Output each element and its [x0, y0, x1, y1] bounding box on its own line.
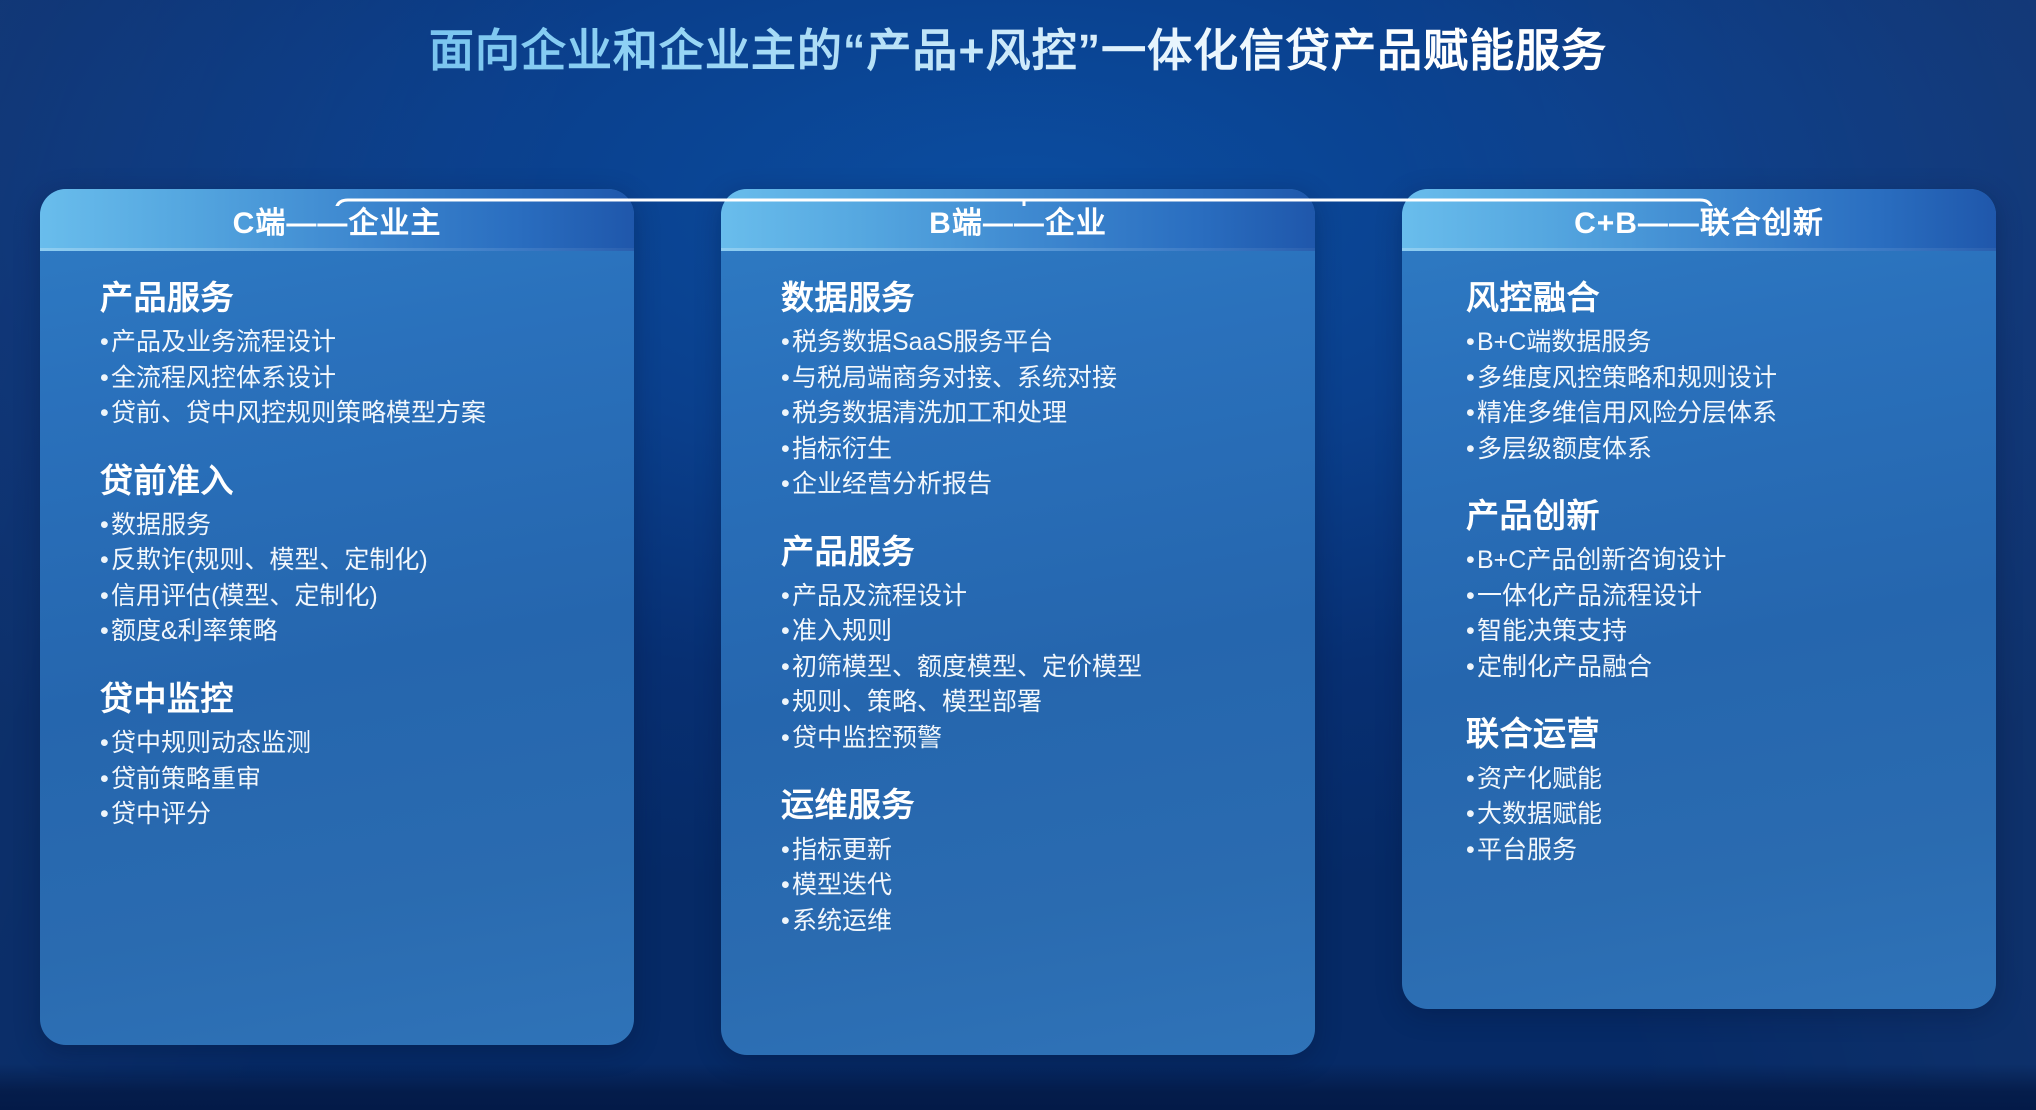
list-item: •数据服务 [100, 508, 634, 544]
list-item: •智能决策支持 [1466, 614, 1996, 650]
bullet-dot: • [781, 650, 792, 686]
section-joint-operations: 联合运营 •资产化赋能 •大数据赋能 •平台服务 [1466, 713, 1996, 868]
bullet-dot: • [1466, 797, 1477, 833]
list-item: •信用评估(模型、定制化) [100, 579, 634, 615]
section-title: 产品服务 [781, 531, 1315, 573]
bullet-dot: • [1466, 762, 1477, 798]
list-item-label: 准入规则 [792, 614, 892, 650]
bullet-dot: • [781, 685, 792, 721]
card-header-c-end: C端——企业主 [40, 189, 634, 251]
list-item-label: 与税局端商务对接、系统对接 [792, 361, 1117, 397]
list-item: •指标更新 [781, 833, 1315, 869]
section-data-service: 数据服务 •税务数据SaaS服务平台 •与税局端商务对接、系统对接 •税务数据清… [781, 277, 1315, 503]
list-item: •贷中监控预警 [781, 721, 1315, 757]
card-body-c-end: 产品服务 •产品及业务流程设计 •全流程风控体系设计 •贷前、贷中风控规则策略模… [40, 251, 634, 1045]
bullet-dot: • [100, 508, 111, 544]
bullet-dot: • [1466, 361, 1477, 397]
slide-canvas: 面向企业和企业主的“产品+风控”一体化信贷产品赋能服务 C端——企业主 产品服务 [0, 0, 2036, 1110]
bullet-dot: • [1466, 543, 1477, 579]
list-item: •多层级额度体系 [1466, 432, 1996, 468]
section-ops-service: 运维服务 •指标更新 •模型迭代 •系统运维 [781, 784, 1315, 939]
bullet-dot: • [781, 361, 792, 397]
list-item: •全流程风控体系设计 [100, 361, 634, 397]
list-item: •反欺诈(规则、模型、定制化) [100, 543, 634, 579]
list-item: •企业经营分析报告 [781, 467, 1315, 503]
bullet-dot: • [1466, 579, 1477, 615]
list-item: •贷中评分 [100, 797, 634, 833]
section-title: 产品服务 [100, 277, 634, 319]
list-item: •准入规则 [781, 614, 1315, 650]
bullet-dot: • [100, 614, 111, 650]
list-item-label: 一体化产品流程设计 [1477, 579, 1702, 615]
bullet-dot: • [100, 797, 111, 833]
list-item-label: B+C产品创新咨询设计 [1477, 543, 1726, 579]
section-title: 联合运营 [1466, 713, 1996, 755]
section-title: 风控融合 [1466, 277, 1996, 319]
bullet-list: •税务数据SaaS服务平台 •与税局端商务对接、系统对接 •税务数据清洗加工和处… [781, 325, 1315, 503]
cards-row: C端——企业主 产品服务 •产品及业务流程设计 •全流程风控体系设计 •贷前、贷… [0, 189, 2036, 1061]
list-item-label: 产品及流程设计 [792, 579, 967, 615]
bullet-dot: • [100, 543, 111, 579]
bullet-list: •资产化赋能 •大数据赋能 •平台服务 [1466, 762, 1996, 869]
bullet-list: •产品及业务流程设计 •全流程风控体系设计 •贷前、贷中风控规则策略模型方案 [100, 325, 634, 432]
bullet-dot: • [781, 579, 792, 615]
list-item-label: 资产化赋能 [1477, 762, 1602, 798]
section-product-service: 产品服务 •产品及业务流程设计 •全流程风控体系设计 •贷前、贷中风控规则策略模… [100, 277, 634, 432]
list-item-label: 定制化产品融合 [1477, 650, 1652, 686]
list-item: •定制化产品融合 [1466, 650, 1996, 686]
list-item-label: B+C端数据服务 [1477, 325, 1651, 361]
list-item: •一体化产品流程设计 [1466, 579, 1996, 615]
bullet-dot: • [1466, 325, 1477, 361]
list-item-label: 贷中评分 [111, 797, 211, 833]
list-item-label: 企业经营分析报告 [792, 467, 992, 503]
list-item: •初筛模型、额度模型、定价模型 [781, 650, 1315, 686]
section-title: 数据服务 [781, 277, 1315, 319]
list-item-label: 多层级额度体系 [1477, 432, 1652, 468]
bullet-dot: • [781, 396, 792, 432]
list-item: •系统运维 [781, 904, 1315, 940]
list-item-label: 指标更新 [792, 833, 892, 869]
list-item: •多维度风控策略和规则设计 [1466, 361, 1996, 397]
list-item-label: 信用评估(模型、定制化) [111, 579, 378, 615]
list-item-label: 贷中规则动态监测 [111, 726, 311, 762]
list-item-label: 指标衍生 [792, 432, 892, 468]
list-item-label: 精准多维信用风险分层体系 [1477, 396, 1777, 432]
card-b-end[interactable]: B端——企业 数据服务 •税务数据SaaS服务平台 •与税局端商务对接、系统对接… [721, 189, 1315, 1055]
list-item: •产品及业务流程设计 [100, 325, 634, 361]
section-title: 贷前准入 [100, 460, 634, 502]
bullet-dot: • [1466, 833, 1477, 869]
bullet-dot: • [781, 325, 792, 361]
section-product-service: 产品服务 •产品及流程设计 •准入规则 •初筛模型、额度模型、定价模型 •规则、… [781, 531, 1315, 757]
section-risk-fusion: 风控融合 •B+C端数据服务 •多维度风控策略和规则设计 •精准多维信用风险分层… [1466, 277, 1996, 467]
bullet-dot: • [1466, 396, 1477, 432]
card-header-b-end: B端——企业 [721, 189, 1315, 251]
list-item: •税务数据SaaS服务平台 [781, 325, 1315, 361]
list-item-label: 系统运维 [792, 904, 892, 940]
list-item-label: 规则、策略、模型部署 [792, 685, 1042, 721]
list-item-label: 大数据赋能 [1477, 797, 1602, 833]
list-item-label: 贷前、贷中风控规则策略模型方案 [111, 396, 486, 432]
list-item-label: 智能决策支持 [1477, 614, 1627, 650]
page-title: 面向企业和企业主的“产品+风控”一体化信贷产品赋能服务 [429, 24, 1607, 78]
section-title: 产品创新 [1466, 495, 1996, 537]
bullet-dot: • [781, 432, 792, 468]
list-item: •大数据赋能 [1466, 797, 1996, 833]
list-item-label: 多维度风控策略和规则设计 [1477, 361, 1777, 397]
section-in-loan-monitoring: 贷中监控 •贷中规则动态监测 •贷前策略重审 •贷中评分 [100, 678, 634, 833]
list-item: •贷前、贷中风控规则策略模型方案 [100, 396, 634, 432]
list-item-label: 初筛模型、额度模型、定价模型 [792, 650, 1142, 686]
list-item: •产品及流程设计 [781, 579, 1315, 615]
list-item: •精准多维信用风险分层体系 [1466, 396, 1996, 432]
section-title: 贷中监控 [100, 678, 634, 720]
bullet-dot: • [100, 726, 111, 762]
bullet-list: •指标更新 •模型迭代 •系统运维 [781, 833, 1315, 940]
list-item: •贷前策略重审 [100, 762, 634, 798]
bullet-dot: • [781, 721, 792, 757]
page-title-wrap: 面向企业和企业主的“产品+风控”一体化信贷产品赋能服务 [0, 24, 2036, 78]
list-item-label: 税务数据清洗加工和处理 [792, 396, 1067, 432]
bullet-list: •B+C产品创新咨询设计 •一体化产品流程设计 •智能决策支持 •定制化产品融合 [1466, 543, 1996, 685]
list-item-label: 反欺诈(规则、模型、定制化) [111, 543, 428, 579]
list-item: •规则、策略、模型部署 [781, 685, 1315, 721]
list-item-label: 平台服务 [1477, 833, 1577, 869]
list-item: •税务数据清洗加工和处理 [781, 396, 1315, 432]
bullet-dot: • [781, 868, 792, 904]
list-item: •B+C端数据服务 [1466, 325, 1996, 361]
bullet-dot: • [1466, 614, 1477, 650]
card-c-plus-b[interactable]: C+B——联合创新 风控融合 •B+C端数据服务 •多维度风控策略和规则设计 •… [1402, 189, 1996, 1009]
section-product-innovation: 产品创新 •B+C产品创新咨询设计 •一体化产品流程设计 •智能决策支持 •定制… [1466, 495, 1996, 685]
bullet-list: •贷中规则动态监测 •贷前策略重审 •贷中评分 [100, 726, 634, 833]
list-item: •B+C产品创新咨询设计 [1466, 543, 1996, 579]
card-body-c-plus-b: 风控融合 •B+C端数据服务 •多维度风控策略和规则设计 •精准多维信用风险分层… [1402, 251, 1996, 1009]
list-item-label: 额度&利率策略 [111, 614, 278, 650]
bullet-list: •产品及流程设计 •准入规则 •初筛模型、额度模型、定价模型 •规则、策略、模型… [781, 579, 1315, 757]
list-item: •资产化赋能 [1466, 762, 1996, 798]
bullet-dot: • [781, 904, 792, 940]
bullet-dot: • [100, 325, 111, 361]
bullet-dot: • [781, 833, 792, 869]
list-item: •指标衍生 [781, 432, 1315, 468]
list-item: •贷中规则动态监测 [100, 726, 634, 762]
list-item: •与税局端商务对接、系统对接 [781, 361, 1315, 397]
list-item-label: 数据服务 [111, 508, 211, 544]
list-item-label: 全流程风控体系设计 [111, 361, 336, 397]
bullet-dot: • [100, 361, 111, 397]
list-item: •模型迭代 [781, 868, 1315, 904]
card-c-end[interactable]: C端——企业主 产品服务 •产品及业务流程设计 •全流程风控体系设计 •贷前、贷… [40, 189, 634, 1045]
list-item-label: 模型迭代 [792, 868, 892, 904]
bullet-dot: • [100, 396, 111, 432]
bullet-list: •B+C端数据服务 •多维度风控策略和规则设计 •精准多维信用风险分层体系 •多… [1466, 325, 1996, 467]
bullet-dot: • [100, 762, 111, 798]
bullet-dot: • [1466, 650, 1477, 686]
section-pre-loan-access: 贷前准入 •数据服务 •反欺诈(规则、模型、定制化) •信用评估(模型、定制化)… [100, 460, 634, 650]
section-title: 运维服务 [781, 784, 1315, 826]
bullet-dot: • [100, 579, 111, 615]
bullet-dot: • [781, 614, 792, 650]
card-header-c-plus-b: C+B——联合创新 [1402, 189, 1996, 251]
bullet-list: •数据服务 •反欺诈(规则、模型、定制化) •信用评估(模型、定制化) •额度&… [100, 508, 634, 650]
list-item: •平台服务 [1466, 833, 1996, 869]
list-item: •额度&利率策略 [100, 614, 634, 650]
card-body-b-end: 数据服务 •税务数据SaaS服务平台 •与税局端商务对接、系统对接 •税务数据清… [721, 251, 1315, 1055]
list-item-label: 税务数据SaaS服务平台 [792, 325, 1053, 361]
list-item-label: 贷前策略重审 [111, 762, 261, 798]
bullet-dot: • [781, 467, 792, 503]
list-item-label: 产品及业务流程设计 [111, 325, 336, 361]
list-item-label: 贷中监控预警 [792, 721, 942, 757]
bullet-dot: • [1466, 432, 1477, 468]
